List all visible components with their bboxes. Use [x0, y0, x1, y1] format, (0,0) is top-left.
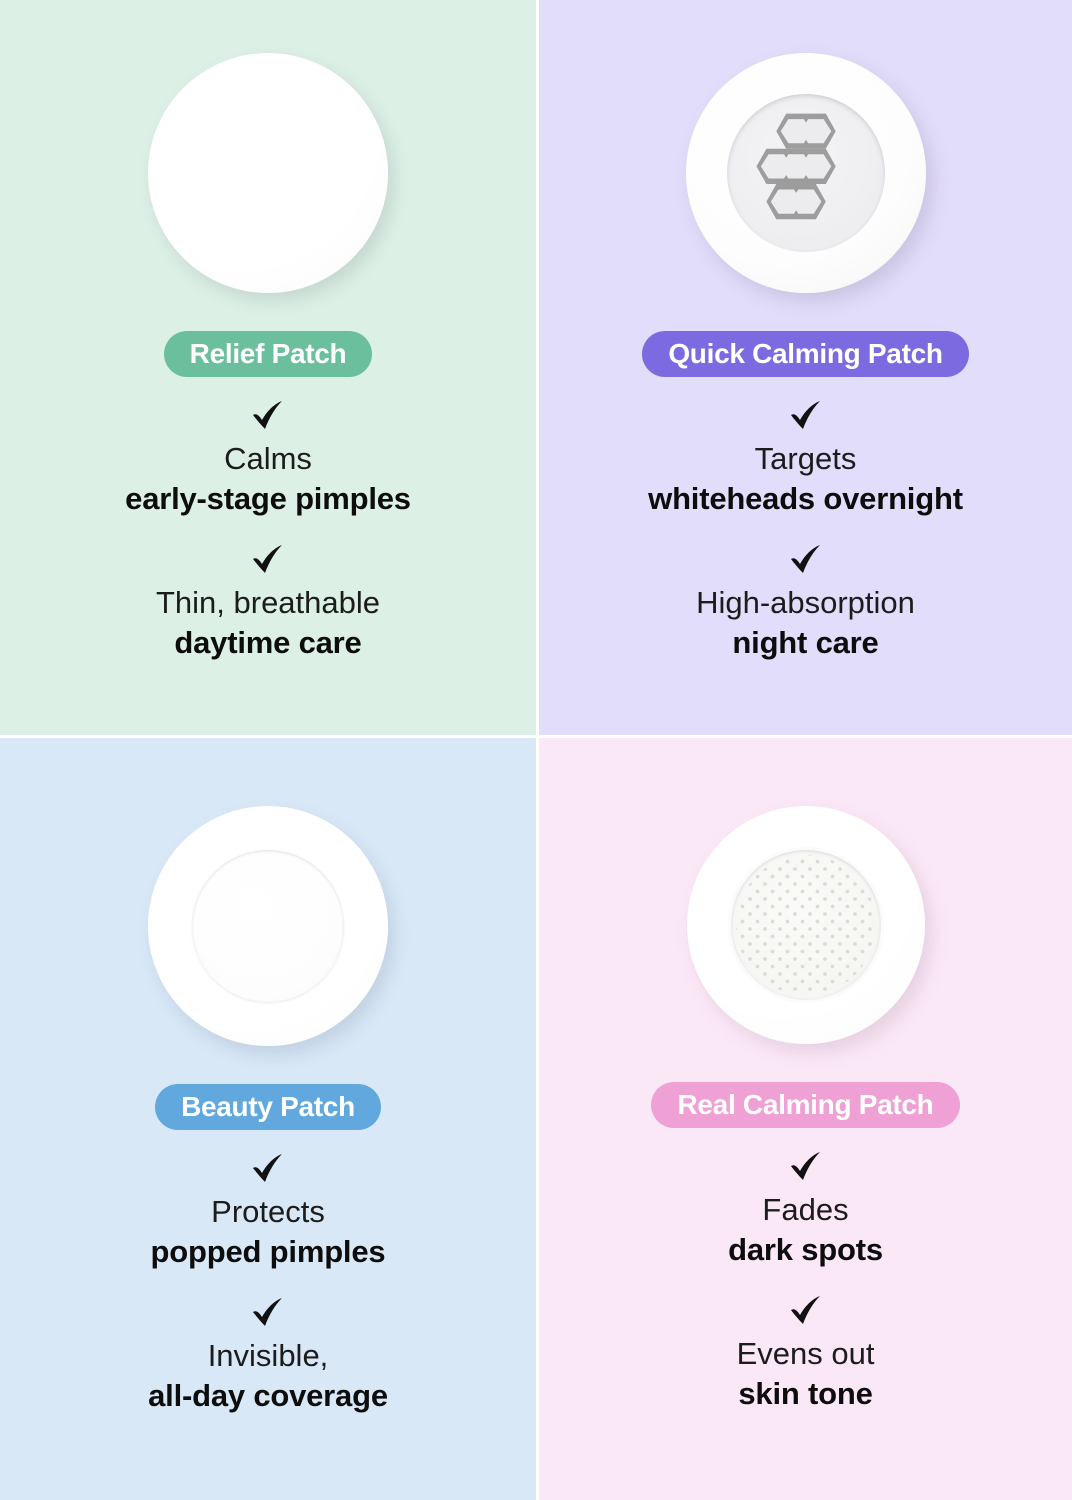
- inner-ring: [192, 850, 344, 1002]
- benefit-bold-text: night care: [732, 625, 878, 662]
- product-image-beauty-patch: [148, 806, 388, 1046]
- microneedle-plate: [731, 850, 881, 1000]
- benefit-bold-text: daytime care: [174, 625, 361, 662]
- benefit-bold-text: dark spots: [728, 1232, 883, 1269]
- quadrant-real-calming-patch: Real Calming Patch Fades dark spots Even…: [536, 735, 1072, 1500]
- badge-beauty-patch[interactable]: Beauty Patch: [155, 1084, 381, 1130]
- check-icon: [249, 543, 287, 577]
- benefit-item: Invisible, all-day coverage: [0, 1296, 536, 1414]
- benefit-bold-text: skin tone: [738, 1376, 872, 1413]
- badge-relief-patch[interactable]: Relief Patch: [164, 331, 373, 377]
- benefit-item: Evens out skin tone: [539, 1294, 1072, 1412]
- quadrant-beauty-patch: Beauty Patch Protects popped pimples Inv…: [0, 735, 536, 1500]
- benefit-list-beauty-patch: Protects popped pimples Invisible, all-d…: [0, 1152, 536, 1414]
- benefit-item: High-absorption night care: [539, 543, 1072, 661]
- check-icon: [249, 1152, 287, 1186]
- microneedle-dots-icon: [731, 850, 881, 1000]
- honeycomb-icon: [740, 107, 872, 239]
- honeycomb-plate: [727, 94, 885, 252]
- benefit-light-text: Evens out: [737, 1336, 875, 1373]
- ringed-white-patch-disc: [148, 806, 388, 1046]
- benefit-item: Thin, breathable daytime care: [0, 543, 536, 661]
- check-icon: [787, 399, 825, 433]
- check-icon: [249, 1296, 287, 1330]
- plain-white-patch-disc: [148, 53, 388, 293]
- badge-quick-calming-patch[interactable]: Quick Calming Patch: [642, 331, 968, 377]
- patch-comparison-grid: Relief Patch Calms early-stage pimples T…: [0, 0, 1072, 1500]
- product-image-relief-patch: [148, 53, 388, 293]
- benefit-item: Fades dark spots: [539, 1150, 1072, 1268]
- product-image-quick-calming-patch: [686, 53, 926, 293]
- benefit-bold-text: whiteheads overnight: [648, 481, 963, 518]
- check-icon: [787, 1150, 825, 1184]
- check-icon: [787, 1294, 825, 1328]
- product-image-real-calming-patch: [687, 806, 925, 1044]
- benefit-light-text: Targets: [755, 441, 857, 478]
- benefit-item: Calms early-stage pimples: [0, 399, 536, 517]
- benefit-list-relief-patch: Calms early-stage pimples Thin, breathab…: [0, 399, 536, 661]
- honeycomb-patch-disc: [686, 53, 926, 293]
- check-icon: [787, 543, 825, 577]
- benefit-item: Targets whiteheads overnight: [539, 399, 1072, 517]
- quadrant-quick-calming-patch: Quick Calming Patch Targets whiteheads o…: [536, 0, 1072, 735]
- badge-real-calming-patch[interactable]: Real Calming Patch: [651, 1082, 959, 1128]
- benefit-light-text: Thin, breathable: [156, 585, 380, 622]
- benefit-list-quick-calming-patch: Targets whiteheads overnight High-absorp…: [539, 399, 1072, 661]
- check-icon: [249, 399, 287, 433]
- quadrant-relief-patch: Relief Patch Calms early-stage pimples T…: [0, 0, 536, 735]
- benefit-bold-text: early-stage pimples: [125, 481, 411, 518]
- benefit-bold-text: all-day coverage: [148, 1378, 388, 1415]
- benefit-bold-text: popped pimples: [151, 1234, 386, 1271]
- benefit-light-text: Fades: [762, 1192, 848, 1229]
- benefit-item: Protects popped pimples: [0, 1152, 536, 1270]
- benefit-list-real-calming-patch: Fades dark spots Evens out skin tone: [539, 1150, 1072, 1412]
- benefit-light-text: Protects: [211, 1194, 325, 1231]
- benefit-light-text: Calms: [224, 441, 312, 478]
- benefit-light-text: Invisible,: [208, 1338, 329, 1375]
- microneedle-patch-disc: [687, 806, 925, 1044]
- benefit-light-text: High-absorption: [696, 585, 915, 622]
